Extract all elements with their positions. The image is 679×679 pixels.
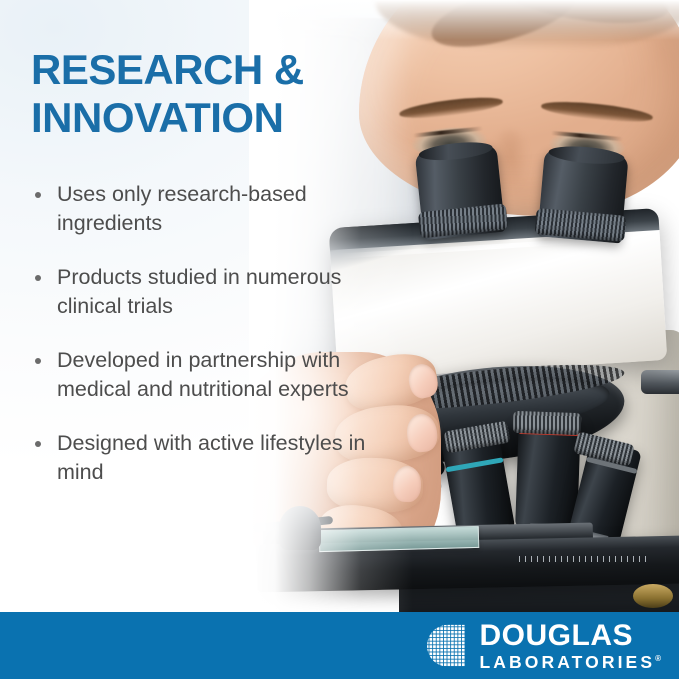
grid-sphere-icon xyxy=(425,623,471,669)
fingernail xyxy=(392,466,421,503)
feature-list: Uses only research-based ingredients Pro… xyxy=(30,180,390,512)
brand-name: DOUGLAS xyxy=(480,620,662,650)
objective-collar xyxy=(513,411,582,435)
title-line-2: INNOVATION xyxy=(31,94,283,141)
registered-mark: ® xyxy=(655,653,661,662)
brand-logo[interactable]: DOUGLAS LABORATORIES® xyxy=(425,620,662,671)
page-title: RESEARCH & INNOVATION xyxy=(31,46,391,142)
list-item: Products studied in numerous clinical tr… xyxy=(30,263,390,321)
microscope-knob xyxy=(641,370,679,394)
list-item: Uses only research-based ingredients xyxy=(30,180,390,238)
specimen-slide xyxy=(319,526,480,552)
brand-subtitle: LABORATORIES® xyxy=(480,653,662,671)
eyepiece-left xyxy=(415,144,506,240)
list-item: Designed with active lifestyles in mind xyxy=(30,429,390,487)
stage-adjust-knob xyxy=(633,584,673,608)
list-item: Developed in partnership with medical an… xyxy=(30,346,390,404)
footer-bar: DOUGLAS LABORATORIES® xyxy=(0,612,679,679)
eyepiece-right xyxy=(537,149,628,244)
slide-clip xyxy=(279,506,321,550)
brand-wordmark: DOUGLAS LABORATORIES® xyxy=(480,620,662,671)
stage-scale xyxy=(519,556,649,562)
title-line-1: RESEARCH & xyxy=(31,46,304,93)
promo-banner: RESEARCH & INNOVATION Uses only research… xyxy=(0,0,679,679)
